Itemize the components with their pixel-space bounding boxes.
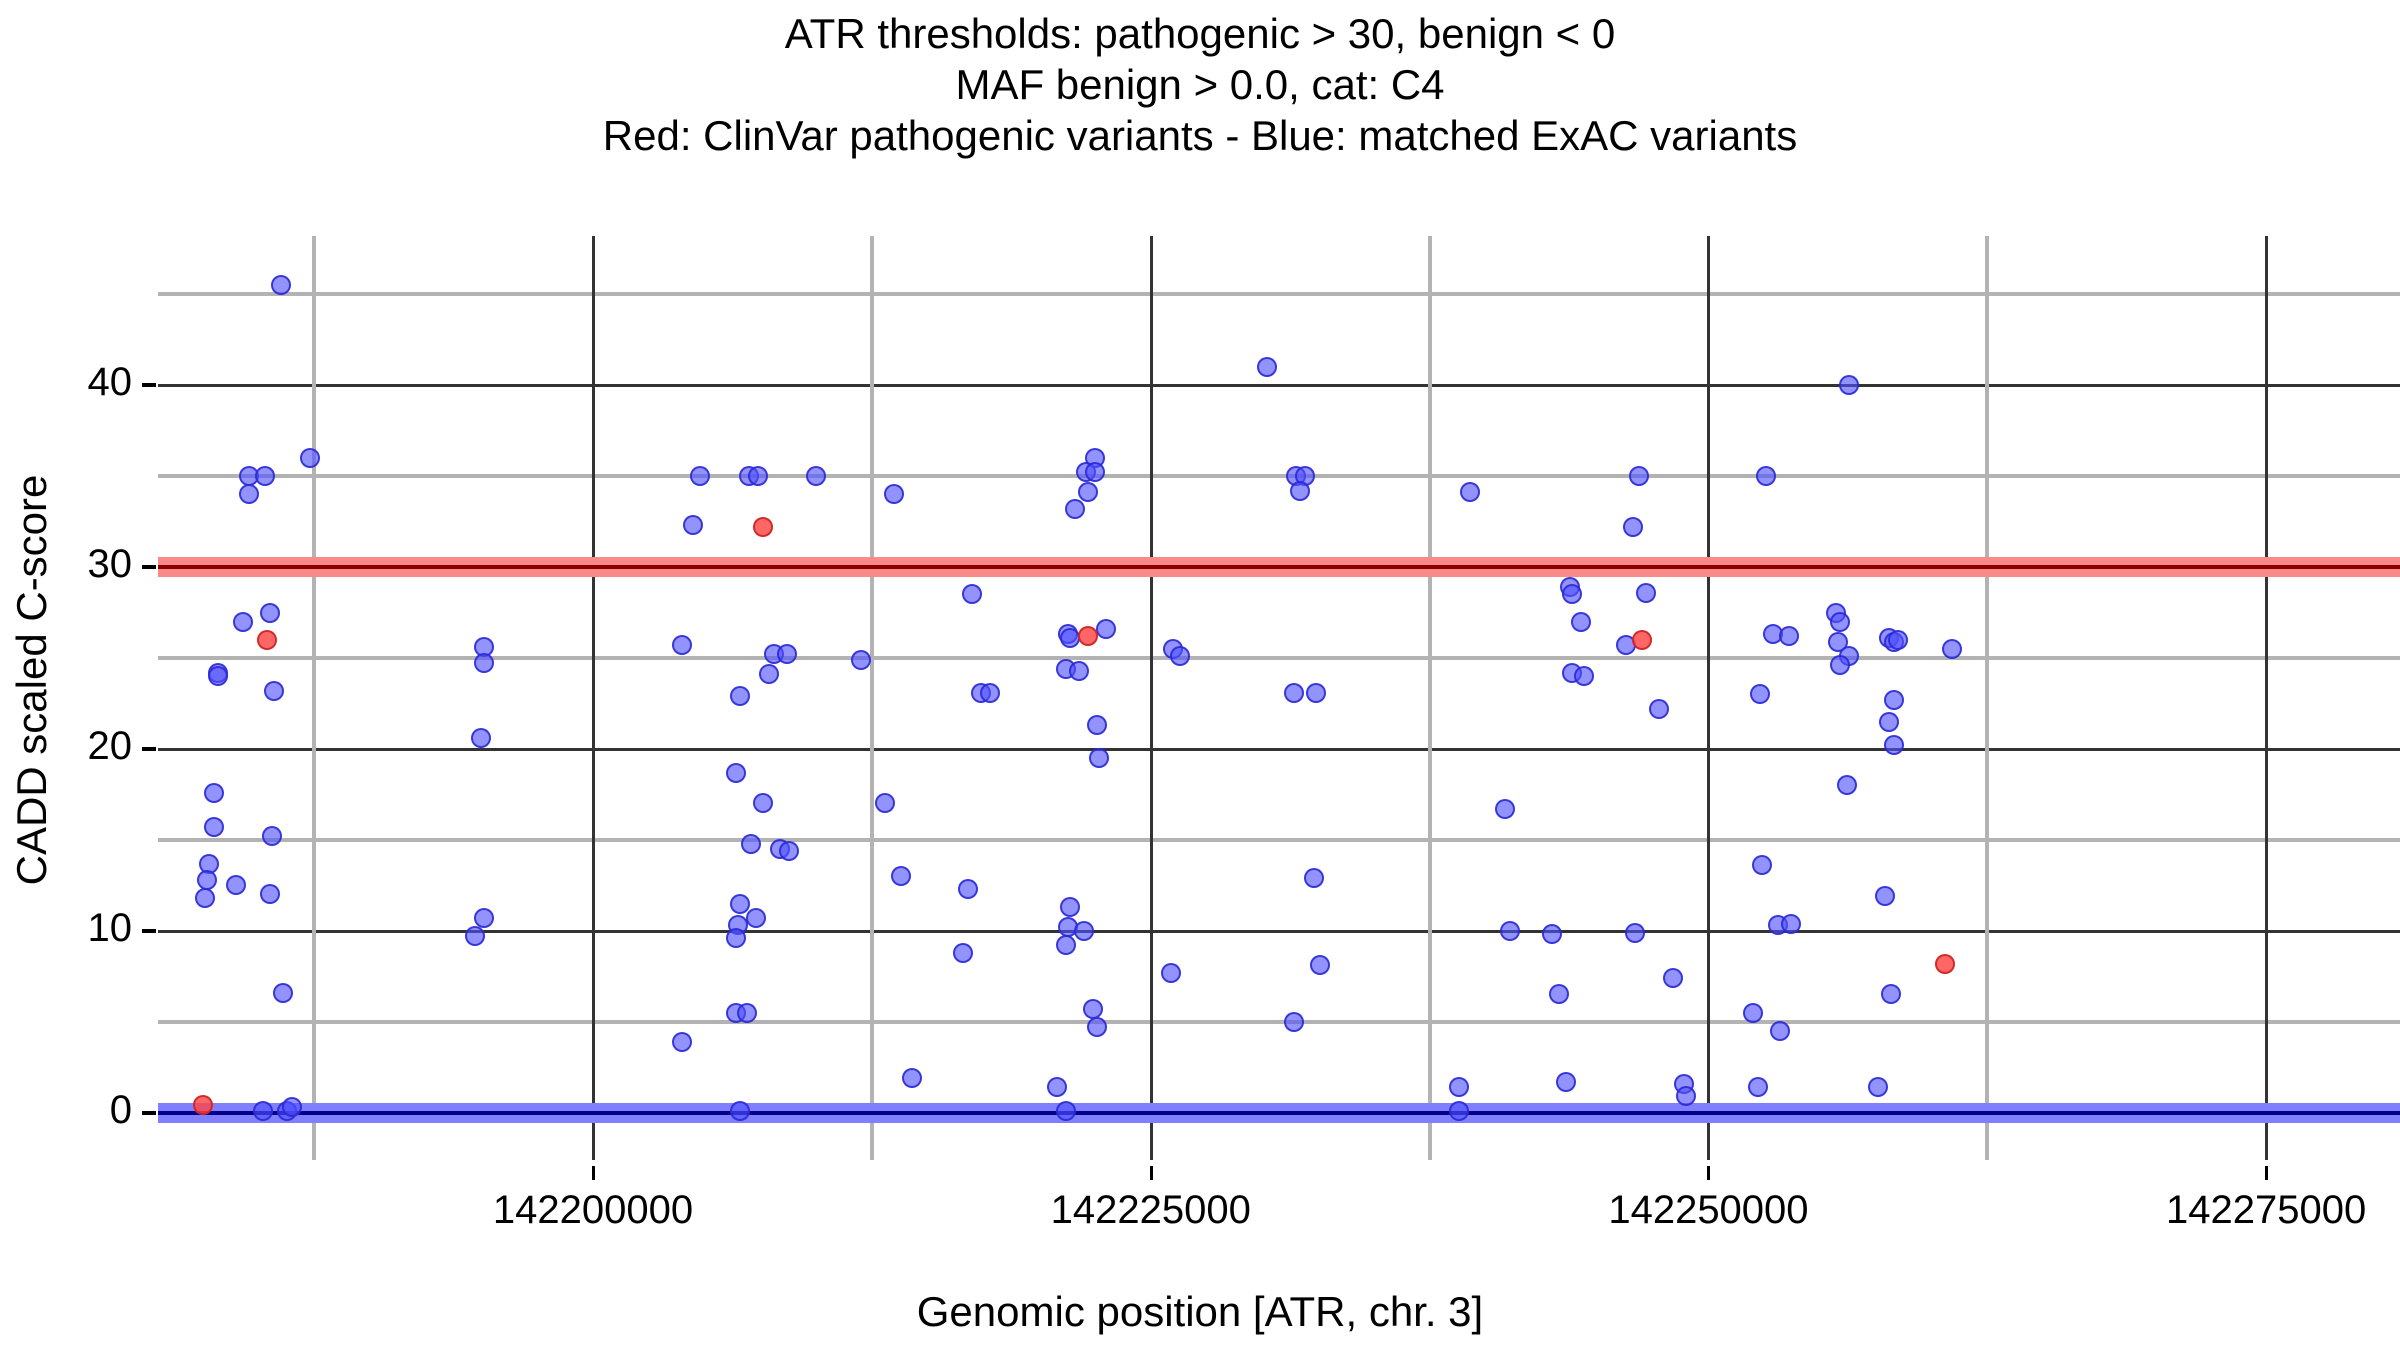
x-tick-label: 142275000 xyxy=(2106,1188,2400,1233)
data-point-benign xyxy=(730,894,750,914)
gridline-horizontal-minor xyxy=(158,474,2400,478)
title-line-3: Red: ClinVar pathogenic variants - Blue:… xyxy=(0,110,2400,161)
data-point-benign xyxy=(1087,1017,1107,1037)
data-point-benign xyxy=(690,466,710,486)
y-tick-mark xyxy=(142,1111,156,1115)
title-line-1: ATR thresholds: pathogenic > 30, benign … xyxy=(0,8,2400,59)
data-point-benign xyxy=(1625,923,1645,943)
x-tick-mark xyxy=(1707,1166,1710,1180)
data-point-benign xyxy=(1571,612,1591,632)
data-point-benign xyxy=(1839,375,1859,395)
data-point-benign xyxy=(1161,963,1181,983)
data-point-benign xyxy=(1888,630,1908,650)
data-point-benign xyxy=(1636,583,1656,603)
data-point-benign xyxy=(1830,655,1850,675)
data-point-benign xyxy=(741,834,761,854)
data-point-pathogenic xyxy=(753,517,773,537)
plot-panel xyxy=(158,236,2400,1160)
data-point-benign xyxy=(1884,690,1904,710)
data-point-benign xyxy=(1542,924,1562,944)
gridline-vertical-minor xyxy=(312,236,316,1160)
data-point-benign xyxy=(264,681,284,701)
gridline-vertical-minor xyxy=(1985,236,1989,1160)
data-point-benign xyxy=(197,870,217,890)
data-point-benign xyxy=(1623,517,1643,537)
gridline-horizontal-minor xyxy=(158,656,2400,660)
data-point-benign xyxy=(1562,584,1582,604)
gridline-horizontal-major xyxy=(158,930,2400,933)
chart-root: ATR thresholds: pathogenic > 30, benign … xyxy=(0,0,2400,1350)
data-point-pathogenic xyxy=(193,1095,213,1115)
data-point-benign xyxy=(1257,357,1277,377)
data-point-benign xyxy=(1069,661,1089,681)
data-point-benign xyxy=(1284,1012,1304,1032)
data-point-benign xyxy=(1743,1003,1763,1023)
data-point-benign xyxy=(260,603,280,623)
y-axis-label: CADD scaled C-score xyxy=(8,180,68,1180)
data-point-benign xyxy=(1868,1077,1888,1097)
x-tick-label: 142200000 xyxy=(433,1188,753,1233)
data-point-pathogenic xyxy=(1078,626,1098,646)
y-tick-label: 30 xyxy=(88,542,133,587)
data-point-benign xyxy=(1884,735,1904,755)
data-point-benign xyxy=(1837,775,1857,795)
data-point-benign xyxy=(1879,712,1899,732)
data-point-benign xyxy=(260,884,280,904)
data-point-benign xyxy=(779,841,799,861)
data-point-benign xyxy=(1549,984,1569,1004)
x-tick-mark xyxy=(592,1166,595,1180)
data-point-benign xyxy=(730,686,750,706)
y-tick-mark xyxy=(142,747,156,751)
data-point-benign xyxy=(204,783,224,803)
data-point-benign xyxy=(1096,619,1116,639)
reference-band-benign-threshold xyxy=(158,1103,2400,1123)
data-point-benign xyxy=(1056,1101,1076,1121)
data-point-benign xyxy=(262,826,282,846)
data-point-benign xyxy=(1078,482,1098,502)
data-point-benign xyxy=(737,1003,757,1023)
data-point-benign xyxy=(1649,699,1669,719)
title-line-2: MAF benign > 0.0, cat: C4 xyxy=(0,59,2400,110)
data-point-benign xyxy=(1574,666,1594,686)
gridline-vertical-minor xyxy=(1428,236,1432,1160)
data-point-benign xyxy=(1284,683,1304,703)
data-point-benign xyxy=(1170,646,1190,666)
data-point-benign xyxy=(1748,1077,1768,1097)
data-point-pathogenic xyxy=(257,630,277,650)
data-point-benign xyxy=(1089,748,1109,768)
gridline-horizontal-minor xyxy=(158,1020,2400,1024)
data-point-benign xyxy=(759,664,779,684)
data-point-pathogenic xyxy=(1632,630,1652,650)
data-point-benign xyxy=(875,793,895,813)
data-point-benign xyxy=(1756,466,1776,486)
data-point-benign xyxy=(1830,612,1850,632)
data-point-benign xyxy=(1085,462,1105,482)
data-point-benign xyxy=(204,817,224,837)
data-point-benign xyxy=(884,484,904,504)
data-point-benign xyxy=(726,928,746,948)
data-point-benign xyxy=(1781,914,1801,934)
data-point-benign xyxy=(683,515,703,535)
x-tick-mark xyxy=(2265,1166,2268,1180)
data-point-benign xyxy=(1556,1072,1576,1092)
gridline-horizontal-minor xyxy=(158,292,2400,296)
y-tick-label: 20 xyxy=(88,724,133,769)
data-point-benign xyxy=(1752,855,1772,875)
data-point-benign xyxy=(239,484,259,504)
data-point-benign xyxy=(1056,935,1076,955)
gridline-vertical-major xyxy=(1150,236,1153,1160)
data-point-benign xyxy=(753,793,773,813)
data-point-benign xyxy=(1449,1101,1469,1121)
gridline-vertical-major xyxy=(1707,236,1710,1160)
data-point-benign xyxy=(748,466,768,486)
data-point-benign xyxy=(726,763,746,783)
y-tick-mark xyxy=(142,929,156,933)
data-point-benign xyxy=(271,275,291,295)
data-point-benign xyxy=(980,683,1000,703)
data-point-benign xyxy=(1306,683,1326,703)
data-point-benign xyxy=(902,1068,922,1088)
data-point-benign xyxy=(806,466,826,486)
reference-line-benign-threshold xyxy=(158,1111,2400,1115)
data-point-benign xyxy=(1310,955,1330,975)
data-point-benign xyxy=(953,943,973,963)
y-tick-mark xyxy=(142,383,156,387)
data-point-benign xyxy=(465,926,485,946)
data-point-benign xyxy=(1083,999,1103,1019)
x-tick-label: 142250000 xyxy=(1548,1188,1868,1233)
gridline-horizontal-major xyxy=(158,384,2400,387)
data-point-benign xyxy=(1495,799,1515,819)
data-point-benign xyxy=(255,466,275,486)
data-point-benign xyxy=(851,650,871,670)
data-point-benign xyxy=(300,448,320,468)
y-tick-mark xyxy=(142,565,156,569)
data-point-benign xyxy=(253,1101,273,1121)
y-tick-label: 40 xyxy=(88,360,133,405)
data-point-benign xyxy=(474,653,494,673)
data-point-benign xyxy=(1663,968,1683,988)
data-point-benign xyxy=(962,584,982,604)
data-point-benign xyxy=(891,866,911,886)
data-point-benign xyxy=(273,983,293,1003)
reference-band-pathogenic-threshold xyxy=(158,557,2400,577)
data-point-benign xyxy=(1460,482,1480,502)
data-point-benign xyxy=(730,1101,750,1121)
data-point-benign xyxy=(1942,639,1962,659)
data-point-benign xyxy=(474,908,494,928)
data-point-benign xyxy=(208,666,228,686)
gridline-horizontal-minor xyxy=(158,838,2400,842)
y-tick-label: 0 xyxy=(110,1088,132,1133)
data-point-benign xyxy=(1449,1077,1469,1097)
y-tick-label: 10 xyxy=(88,906,133,951)
data-point-benign xyxy=(1087,715,1107,735)
x-tick-label: 142225000 xyxy=(991,1188,1311,1233)
gridline-vertical-major xyxy=(592,236,595,1160)
data-point-benign xyxy=(233,612,253,632)
data-point-pathogenic xyxy=(1935,954,1955,974)
data-point-benign xyxy=(1629,466,1649,486)
data-point-benign xyxy=(672,635,692,655)
gridline-vertical-minor xyxy=(870,236,874,1160)
x-axis-label: Genomic position [ATR, chr. 3] xyxy=(0,1288,2400,1336)
chart-title-block: ATR thresholds: pathogenic > 30, benign … xyxy=(0,8,2400,161)
data-point-benign xyxy=(1875,886,1895,906)
data-point-benign xyxy=(1779,626,1799,646)
gridline-horizontal-major xyxy=(158,748,2400,751)
data-point-benign xyxy=(1290,481,1310,501)
data-point-benign xyxy=(746,908,766,928)
x-tick-mark xyxy=(1150,1166,1153,1180)
data-point-benign xyxy=(1074,921,1094,941)
data-point-benign xyxy=(672,1032,692,1052)
data-point-benign xyxy=(1500,921,1520,941)
data-point-benign xyxy=(1304,868,1324,888)
data-point-benign xyxy=(958,879,978,899)
data-point-benign xyxy=(777,644,797,664)
data-point-benign xyxy=(1770,1021,1790,1041)
data-point-benign xyxy=(1065,499,1085,519)
gridline-vertical-major xyxy=(2265,236,2268,1160)
data-point-benign xyxy=(471,728,491,748)
data-point-benign xyxy=(1750,684,1770,704)
data-point-benign xyxy=(226,875,246,895)
data-point-benign xyxy=(1881,984,1901,1004)
reference-line-pathogenic-threshold xyxy=(158,565,2400,569)
data-point-benign xyxy=(1060,897,1080,917)
data-point-benign xyxy=(282,1097,302,1117)
data-point-benign xyxy=(1047,1077,1067,1097)
data-point-benign xyxy=(195,888,215,908)
